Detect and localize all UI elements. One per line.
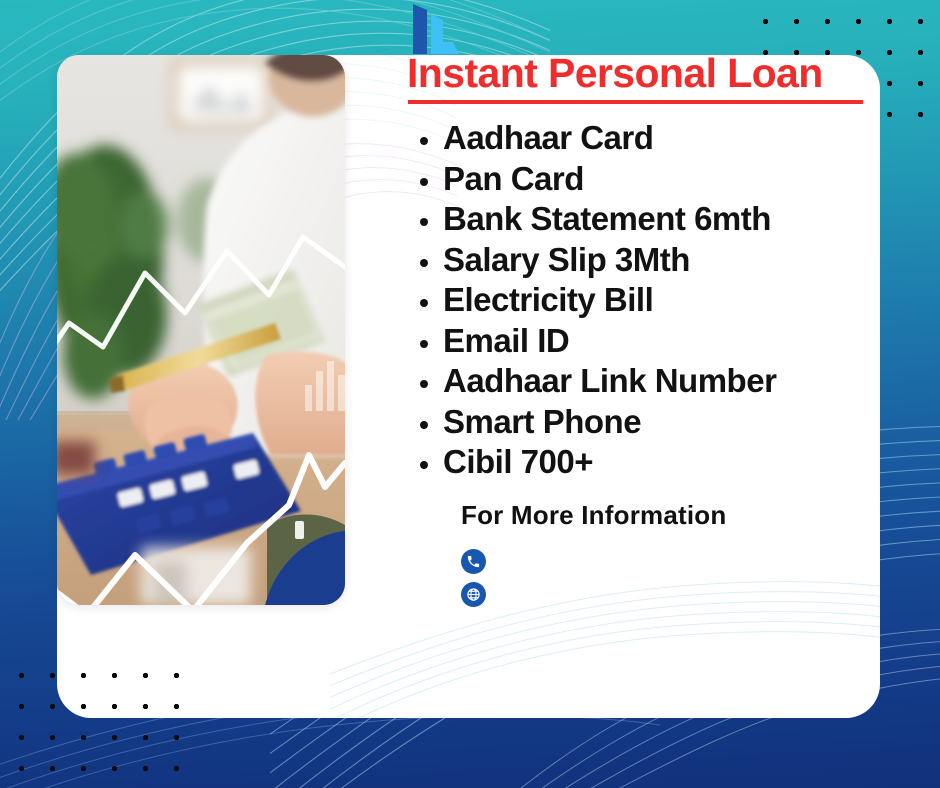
list-item: Aadhaar Card — [413, 118, 883, 159]
contact-phone[interactable] — [461, 545, 496, 578]
phone-icon[interactable] — [461, 549, 486, 574]
requirements-list: Aadhaar Card Pan Card Bank Statement 6mt… — [413, 118, 883, 483]
more-information-label: For More Information — [461, 500, 726, 531]
contact-website[interactable] — [461, 578, 496, 611]
contact-list — [461, 545, 496, 611]
globe-icon[interactable] — [461, 582, 486, 607]
list-item: Aadhaar Link Number — [413, 361, 883, 402]
list-item: Electricity Bill — [413, 280, 883, 321]
list-item: Email ID — [413, 321, 883, 362]
page-title: Instant Personal Loan — [407, 52, 877, 95]
title-underline — [408, 100, 863, 104]
hero-photo-image — [57, 55, 345, 605]
list-item: Salary Slip 3Mth — [413, 240, 883, 281]
list-item: Smart Phone — [413, 402, 883, 443]
flyer-content: Instant Personal Loan Aadhaar Card Pan C… — [351, 0, 823, 663]
hero-photo — [57, 55, 345, 605]
list-item: Bank Statement 6mth — [413, 199, 883, 240]
list-item: Cibil 700+ — [413, 442, 883, 483]
list-item: Pan Card — [413, 159, 883, 200]
poster-canvas: Instant Personal Loan Aadhaar Card Pan C… — [0, 0, 940, 788]
